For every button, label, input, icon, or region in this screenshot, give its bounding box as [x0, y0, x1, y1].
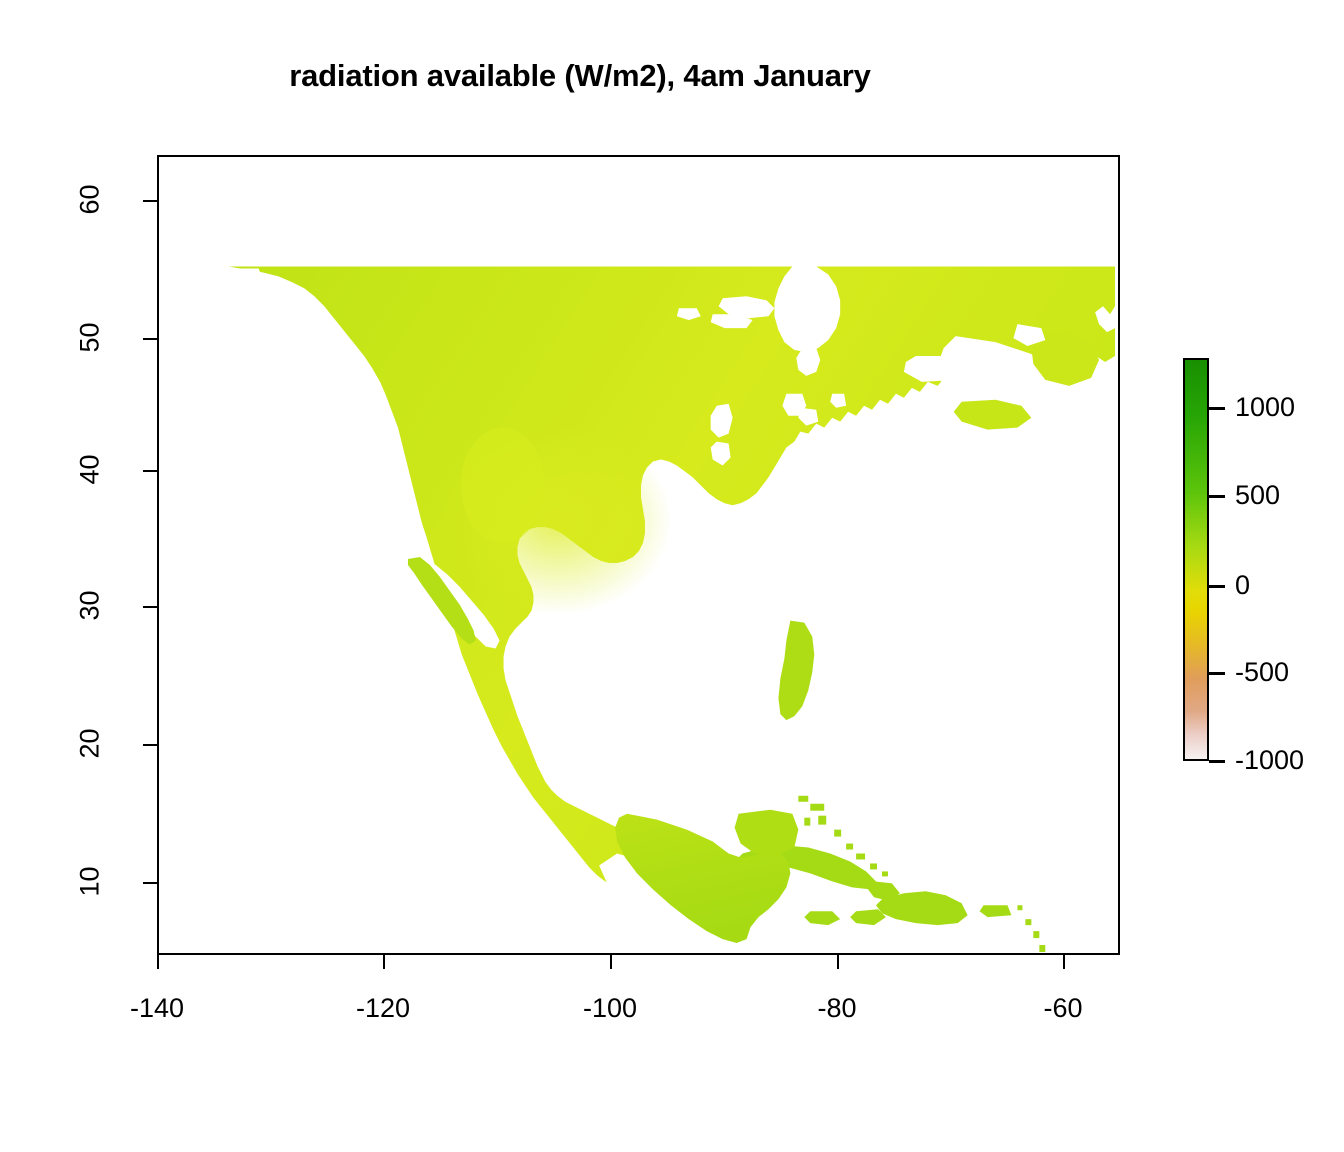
x-tick — [837, 955, 839, 969]
colorbar-tick — [1209, 495, 1225, 498]
colorbar-tick — [1209, 672, 1225, 675]
colorbar-tick — [1209, 760, 1225, 763]
x-tick-label: -60 — [1013, 993, 1113, 1024]
y-tick — [143, 470, 157, 472]
x-tick — [1063, 955, 1065, 969]
x-tick — [383, 955, 385, 969]
x-tick — [157, 955, 159, 969]
plot-canvas: radiation available (W/m2), 4am January — [0, 0, 1344, 1152]
y-tick — [143, 882, 157, 884]
x-tick-label: -80 — [787, 993, 887, 1024]
x-tick-label: -100 — [560, 993, 660, 1024]
colorbar-tick — [1209, 585, 1225, 588]
y-tick-label: 10 — [75, 852, 106, 912]
y-tick — [143, 606, 157, 608]
colorbar-gradient — [1183, 358, 1209, 761]
x-tick — [610, 955, 612, 969]
y-tick — [143, 338, 157, 340]
page-title: radiation available (W/m2), 4am January — [0, 58, 1160, 94]
x-axis-line — [157, 953, 1120, 955]
y-tick-label: 50 — [75, 308, 106, 368]
colorbar-tick-label: -1000 — [1235, 745, 1304, 776]
colorbar-legend — [1183, 358, 1209, 761]
y-tick-label: 40 — [75, 440, 106, 500]
colorbar-tick-label: 1000 — [1235, 392, 1295, 423]
colorbar-tick-label: -500 — [1235, 657, 1289, 688]
colorbar-tick-label: 0 — [1235, 570, 1250, 601]
y-tick-label: 60 — [75, 170, 106, 230]
y-tick-label: 20 — [75, 714, 106, 774]
y-tick — [143, 744, 157, 746]
raster-map — [159, 157, 1118, 953]
y-axis-line — [157, 155, 159, 955]
colorbar-tick — [1209, 407, 1225, 410]
x-tick-label: -120 — [333, 993, 433, 1024]
y-tick — [143, 200, 157, 202]
x-tick-label: -140 — [107, 993, 207, 1024]
colorbar-tick-label: 500 — [1235, 480, 1280, 511]
map-plot-area — [157, 155, 1120, 955]
y-tick-label: 30 — [75, 576, 106, 636]
